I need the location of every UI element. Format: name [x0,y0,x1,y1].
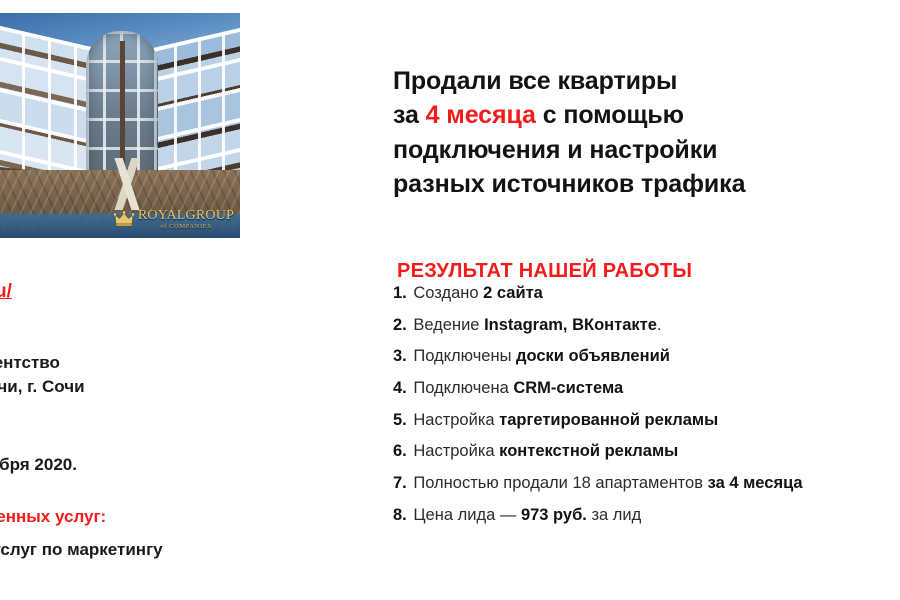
result-item-number: 7. [393,474,407,492]
result-item-suffix: . [657,316,662,334]
result-item-highlight: Instagram, ВКонтакте [484,316,657,334]
result-item: 3. Подключены доски объявлений [393,348,900,365]
result-item: 4. Подключена CRM-система [393,380,900,397]
client-value-line-2: жимости в Сочи, г. Сочи [0,377,85,397]
crown-icon [114,211,134,227]
site-link-secondary[interactable]: ap.viproyal.ru/ [0,281,12,303]
result-item: 1. Создано 2 сайта [393,285,900,302]
right-column: Продали все квартиры за 4 месяца с помощ… [393,0,900,600]
logo-sub-text: of COMPANIES [138,224,234,231]
result-item-text: Подключены [409,347,516,365]
headline-line-4: разных источников трафика [393,170,745,198]
project-photo: ROYALGROUP of COMPANIES [0,13,240,238]
result-item-number: 8. [393,506,407,524]
result-item: 2. Ведение Instagram, ВКонтакте. [393,317,900,334]
result-item-number: 2. [393,316,407,334]
result-item-number: 1. [393,284,407,302]
result-item-text: Полностью продали 18 апартаментов [409,474,708,492]
result-item: 7. Полностью продали 18 апартаментов за … [393,475,900,492]
result-item-highlight: доски объявлений [516,347,670,365]
result-item-highlight: CRM-система [513,379,623,397]
result-item-highlight: 2 сайта [483,284,543,302]
services-value: ий комплекс услуг по маркетингу [0,540,163,560]
result-item-number: 3. [393,347,407,365]
headline-line-2-prefix: за [393,101,426,129]
headline-line-1: Продали все квартиры [393,67,677,95]
left-column: ROYALGROUP of COMPANIES viproyal.ru/ ap.… [0,0,360,600]
headline-accent: 4 месяца [426,101,536,129]
client-value-line-1: тиционное агентство [0,353,60,373]
result-item-highlight: за 4 месяца [708,474,803,492]
result-item-text: Ведение [409,316,484,334]
result-item: 5. Настройка таргетированной рекламы [393,412,900,429]
royal-group-logo: ROYALGROUP of COMPANIES [114,209,234,231]
facade-staircase [84,158,170,210]
result-item-text: Создано [409,284,483,302]
section-title: РЕЗУЛЬТАТ НАШЕЙ РАБОТЫ [397,260,692,283]
result-item-highlight: таргетированной рекламы [499,411,718,429]
result-item: 8. Цена лида — 973 руб. за лид [393,507,900,524]
results-list: 1. Создано 2 сайта2. Ведение Instagram, … [393,285,900,539]
services-label: и предоставленных услуг: [0,507,106,527]
result-item-number: 4. [393,379,407,397]
result-item-highlight: 973 руб. [521,506,587,524]
result-item-highlight: контекстной рекламы [499,442,678,460]
result-item-suffix: за лид [587,506,641,524]
result-item-number: 5. [393,411,407,429]
result-item-text: Подключена [409,379,514,397]
result-item-text: Цена лида — [409,506,521,524]
period-value: та 2018 — ноября 2020. [0,455,77,475]
result-item-text: Настройка [409,442,499,460]
headline-line-3: подключения и настройки [393,136,717,164]
photo-building-facade [0,13,240,238]
result-item: 6. Настройка контекстной рекламы [393,443,900,460]
page-headline: Продали все квартиры за 4 месяца с помощ… [393,64,898,202]
result-item-number: 6. [393,442,407,460]
logo-wordmark: ROYALGROUP of COMPANIES [138,209,234,231]
result-item-text: Настройка [409,411,499,429]
headline-line-2-suffix: с помощью [536,101,684,129]
logo-main-text: ROYALGROUP [138,209,234,223]
